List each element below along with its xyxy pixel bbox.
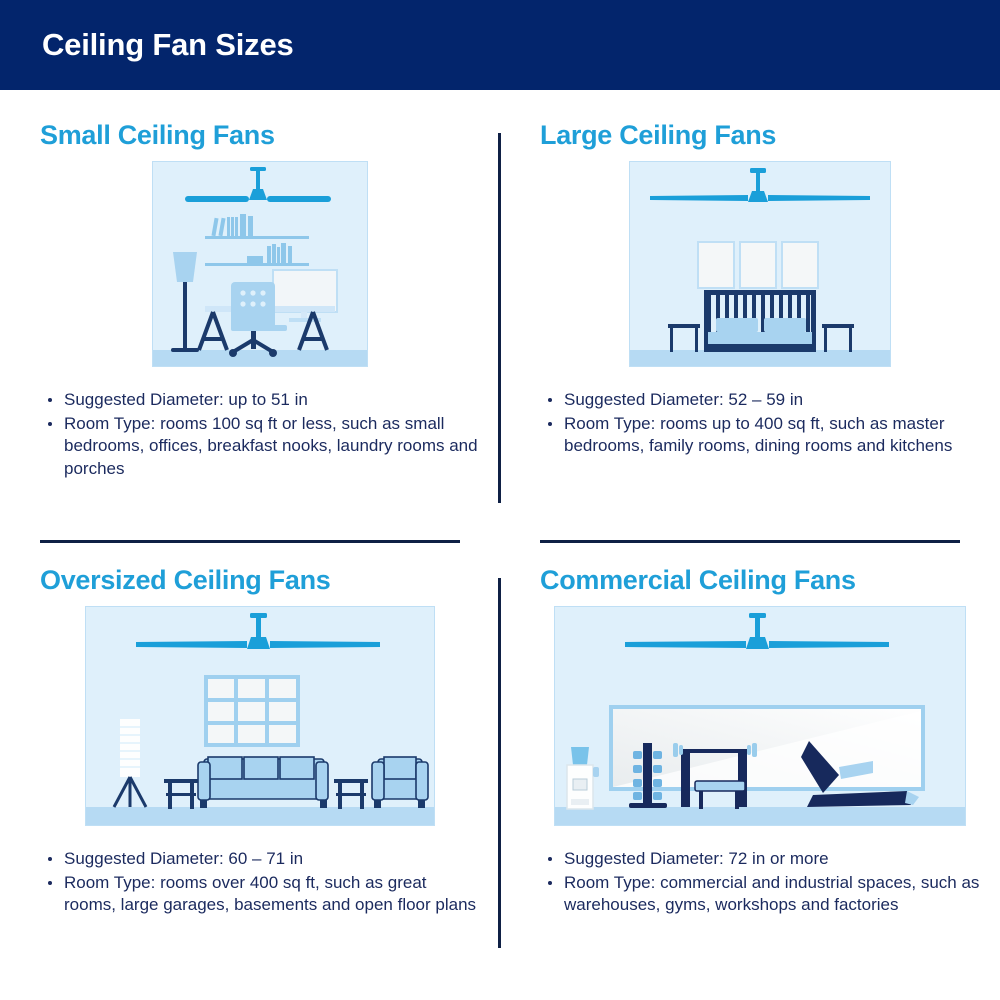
floor-lamp-icon [171,252,199,352]
list-item: Room Type: commercial and industrial spa… [540,872,980,917]
page-title: Ceiling Fan Sizes [42,27,294,63]
card-title-oversized: Oversized Ceiling Fans [40,565,480,596]
water-cooler-icon [567,747,599,809]
list-item: Suggested Diameter: 60 – 71 in [40,848,480,871]
side-table-right [334,779,368,809]
wall-art-frames [698,242,818,288]
horizontal-divider-left [40,540,460,543]
home-office-illustration [153,162,367,366]
bullet-list-oversized: Suggested Diameter: 60 – 71 in Room Type… [40,848,480,917]
bullets-wrap-commercial: Suggested Diameter: 72 in or more Room T… [540,848,980,917]
home-office-scene [152,161,368,367]
bedroom-illustration [630,162,890,366]
vertical-divider-bottom [498,578,501,948]
page-header: Ceiling Fan Sizes [0,0,1000,90]
mirror-panel [611,707,923,789]
bullet-list-commercial: Suggested Diameter: 72 in or more Room T… [540,848,980,917]
card-title-commercial: Commercial Ceiling Fans [540,565,980,596]
sofa-icon [198,757,328,808]
side-table-left [164,779,198,809]
ceiling-fan-icon [650,168,870,202]
card-title-large: Large Ceiling Fans [540,120,980,151]
armchair-icon [372,757,428,808]
card-oversized-ceiling-fans: Oversized Ceiling Fans [40,565,480,985]
list-item: Room Type: rooms over 400 sq ft, such as… [40,872,480,917]
tripod-floor-lamp-icon [114,719,146,807]
vertical-divider-top [498,133,501,503]
bullet-list-large: Suggested Diameter: 52 – 59 in Room Type… [540,389,980,458]
bedroom-scene [629,161,891,367]
list-item: Suggested Diameter: 72 in or more [540,848,980,871]
bullets-wrap-small: Suggested Diameter: up to 51 in Room Typ… [40,389,480,480]
gym-illustration [555,607,965,825]
living-room-illustration [86,607,434,825]
card-small-ceiling-fans: Small Ceiling Fans [40,120,480,520]
nightstand-right [822,324,854,352]
card-large-ceiling-fans: Large Ceiling Fans [540,120,980,520]
living-room-scene [85,606,435,826]
card-commercial-ceiling-fans: Commercial Ceiling Fans [540,565,980,985]
ceiling-fan-icon [185,167,331,202]
bullet-list-small: Suggested Diameter: up to 51 in Room Typ… [40,389,480,480]
list-item: Suggested Diameter: 52 – 59 in [540,389,980,412]
infographic-page: Ceiling Fan Sizes Small Ceiling Fans [0,0,1000,1000]
bed-icon [704,290,816,352]
ceiling-fan-icon [625,613,889,649]
window-icon [206,677,298,745]
monitor-icon [273,270,337,322]
list-item: Room Type: rooms 100 sq ft or less, such… [40,413,480,481]
card-title-small: Small Ceiling Fans [40,120,480,151]
ceiling-fan-icon [136,613,380,649]
bullets-wrap-oversized: Suggested Diameter: 60 – 71 in Room Type… [40,848,480,917]
bullets-wrap-large: Suggested Diameter: 52 – 59 in Room Type… [540,389,980,458]
gym-scene [554,606,966,826]
list-item: Suggested Diameter: up to 51 in [40,389,480,412]
horizontal-divider-right [540,540,960,543]
list-item: Room Type: rooms up to 400 sq ft, such a… [540,413,980,458]
nightstand-left [668,324,700,352]
